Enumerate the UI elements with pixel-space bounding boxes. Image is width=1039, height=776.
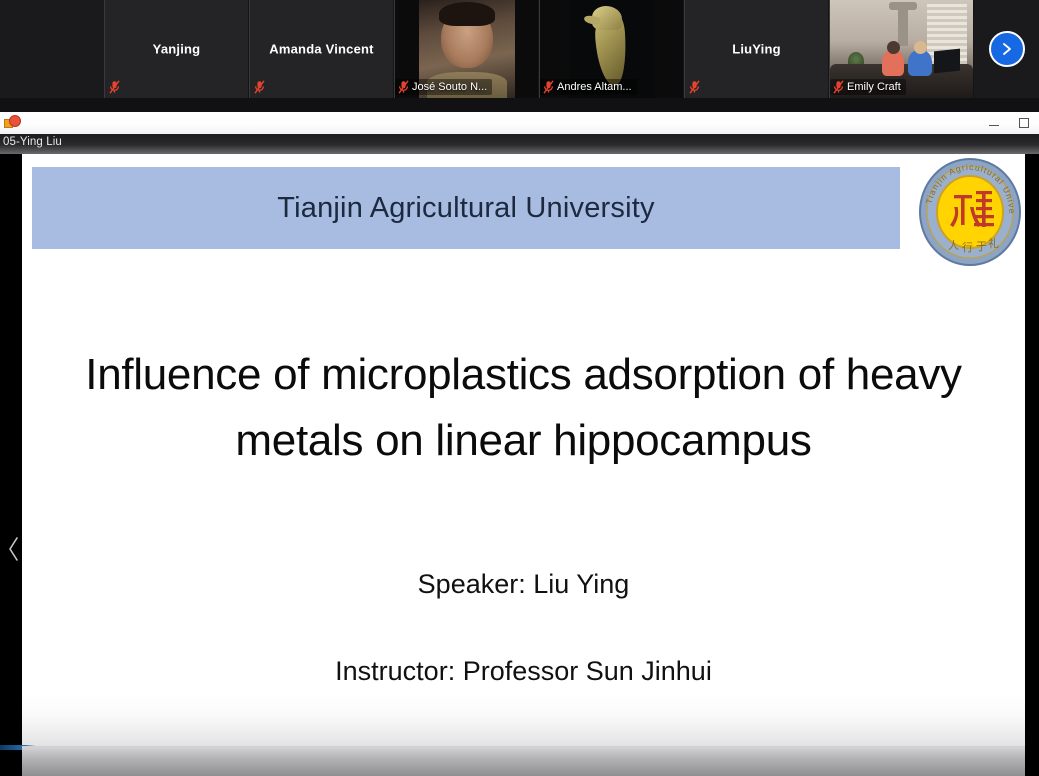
participant-tile-amanda-vincent[interactable]: Amanda Vincent xyxy=(249,0,394,98)
minimize-button[interactable] xyxy=(979,112,1009,134)
presenter-name-label: 05-Ying Liu xyxy=(3,136,62,148)
participant-name: José Souto N... xyxy=(412,81,487,93)
presentation-slide: Tianjin Agricultural University Tianjin … xyxy=(22,154,1025,776)
svg-text:行: 行 xyxy=(962,241,973,254)
slide-speaker-line: Speaker: Liu Ying xyxy=(28,569,1019,600)
shared-screen-canvas: Tianjin Agricultural University Tianjin … xyxy=(0,154,1039,776)
microphone-muted-icon xyxy=(833,80,844,94)
microphone-muted-icon xyxy=(109,80,120,94)
participant-filmstrip: Yanjing Amanda Vincent José Souto N... xyxy=(0,0,1039,98)
participant-footer xyxy=(250,80,265,94)
window-titlebar xyxy=(0,112,1039,135)
filmstrip-next-page-button[interactable] xyxy=(989,31,1025,67)
participant-tile-andres-altamirano[interactable]: Andres Altam... xyxy=(539,0,684,98)
participant-tile-jose-souto[interactable]: José Souto N... xyxy=(394,0,539,98)
meeting-control-toolbar[interactable] xyxy=(22,746,1025,776)
previous-slide-button[interactable] xyxy=(4,532,24,566)
slide-right-margin xyxy=(1025,154,1039,776)
minimize-icon xyxy=(989,125,999,126)
presenter-label-bar: 05-Ying Liu xyxy=(0,134,1039,154)
slide-header-title: Tianjin Agricultural University xyxy=(277,192,654,225)
maximize-icon xyxy=(1019,118,1029,128)
slide-instructor-line: Instructor: Professor Sun Jinhui xyxy=(28,656,1019,687)
participant-footer: Emily Craft xyxy=(830,79,906,95)
svg-text:于: 于 xyxy=(976,241,987,253)
participant-footer: José Souto N... xyxy=(395,79,492,95)
slide-header-band: Tianjin Agricultural University xyxy=(32,167,900,249)
participant-name: Amanda Vincent xyxy=(250,42,393,57)
chevron-right-icon xyxy=(1000,41,1014,57)
filmstrip-next-page-area xyxy=(974,0,1039,98)
filmstrip-bottom-gap xyxy=(0,98,1039,112)
university-seal-icon: Tianjin Agricultural University 人行于礼 xyxy=(918,157,1022,267)
participant-name: LiuYing xyxy=(685,42,828,57)
participant-footer xyxy=(685,80,700,94)
microphone-muted-icon xyxy=(398,80,409,94)
participant-footer xyxy=(105,80,120,94)
maximize-button[interactable] xyxy=(1009,112,1039,134)
participant-name: Andres Altam... xyxy=(557,81,632,93)
participant-tile-emily-craft[interactable]: Emily Craft xyxy=(829,0,974,98)
participant-name: Emily Craft xyxy=(847,81,901,93)
svg-text:礼: 礼 xyxy=(988,236,999,250)
chevron-left-icon xyxy=(6,534,22,564)
microphone-muted-icon xyxy=(689,80,700,94)
participant-tile-yanjing[interactable]: Yanjing xyxy=(104,0,249,98)
participant-footer: Andres Altam... xyxy=(540,79,637,95)
microphone-muted-icon xyxy=(254,80,265,94)
slide-main-title: Influence of microplastics adsorption of… xyxy=(28,342,1019,474)
powerpoint-icon xyxy=(4,114,22,132)
svg-text:人: 人 xyxy=(948,239,959,252)
filmstrip-left-padding xyxy=(0,0,104,98)
microphone-muted-icon xyxy=(543,80,554,94)
participant-name: Yanjing xyxy=(105,42,248,57)
participant-tile-liuying[interactable]: LiuYing xyxy=(684,0,829,98)
